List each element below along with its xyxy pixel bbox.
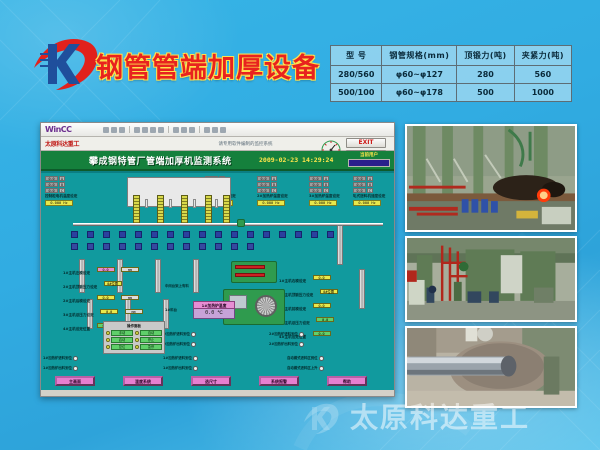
indicator-label: 2#加热炉进料到位 bbox=[269, 332, 298, 336]
machine-rotor-icon bbox=[255, 295, 277, 317]
spec-col-model: 型 号 bbox=[331, 46, 382, 66]
group-label: 3#加热炉温度设定 bbox=[309, 194, 340, 199]
nav-button-alarm[interactable]: 系统报警 bbox=[259, 376, 299, 386]
brand-watermark: 太原科达重工 bbox=[300, 392, 600, 440]
indicator-label: 1#加热炉进料到位 bbox=[43, 356, 72, 360]
group-label: 控制柜电机温度设定 bbox=[45, 194, 77, 199]
operator-lamp-icon bbox=[106, 331, 110, 335]
table-row: 280/560 φ60~φ127 280 560 bbox=[331, 66, 572, 84]
operator-row[interactable]: 急停 bbox=[135, 344, 162, 350]
roller-icon bbox=[199, 243, 206, 250]
operator-lamp-icon bbox=[135, 338, 139, 342]
unit-box: C bbox=[367, 188, 373, 193]
nav-button-main[interactable]: 主画面 bbox=[55, 376, 95, 386]
furnace-column bbox=[223, 195, 230, 225]
roller-icon bbox=[119, 243, 126, 250]
unit-box: B bbox=[271, 182, 277, 187]
hmi-process-canvas: 0.0 A 0.0 B 0.0 C 控制柜电机温度设定 0.000 Hz 0.0… bbox=[41, 171, 394, 390]
cell-pipe-size: φ60~φ178 bbox=[382, 84, 457, 102]
operator-lamp-icon bbox=[106, 338, 110, 342]
value-box: 0.0 bbox=[45, 182, 58, 187]
current-user-box: 当前用户 bbox=[348, 152, 390, 167]
bottom-status-4: 自动模式进料区到位 bbox=[287, 355, 324, 361]
indicator-furnace2-in: 2#加热炉进料到位 bbox=[269, 331, 304, 337]
operator-button[interactable]: 手动 bbox=[111, 330, 133, 336]
value-row: 0.0 C bbox=[353, 188, 385, 193]
param-value[interactable]: 0.0 bbox=[100, 309, 118, 314]
roller-icon bbox=[135, 231, 142, 238]
hmi-subbar: 太原科达重工 请专用软件编制的监控系统 EXIT Login bbox=[41, 137, 394, 151]
save-icon[interactable] bbox=[119, 127, 125, 133]
furnace-hanger bbox=[215, 199, 218, 208]
status-lamp bbox=[319, 366, 324, 371]
group-setpoint-field[interactable]: 0.000 Hz bbox=[45, 200, 73, 206]
operator-row[interactable]: 停止 bbox=[135, 337, 162, 343]
furnace-column bbox=[205, 195, 212, 225]
temperature-value: 0.0 ℃ bbox=[193, 309, 235, 319]
value-group-3: 0.0 A 0.0 B 0.0 C 3#加热炉温度设定 0.000 Hz bbox=[309, 176, 340, 206]
param-value[interactable]: 0#位置 bbox=[104, 281, 122, 286]
roller-icon bbox=[119, 231, 126, 238]
roller-icon bbox=[231, 231, 238, 238]
operator-lamp-icon bbox=[106, 345, 110, 349]
operator-row[interactable]: 启动 bbox=[106, 337, 133, 343]
unit-box: B bbox=[323, 182, 329, 187]
cell-clamp-force: 1000 bbox=[514, 84, 571, 102]
roller-icon bbox=[87, 243, 94, 250]
unit-box: A bbox=[367, 176, 373, 181]
hmi-titlebar: WinCC bbox=[41, 123, 394, 137]
indicator-label: 自动模式进料区上升 bbox=[287, 366, 318, 370]
operator-lamp-icon bbox=[135, 345, 139, 349]
toolbar-separator bbox=[129, 126, 130, 133]
furnace-hanger bbox=[169, 199, 172, 208]
machine-ram-bar bbox=[235, 265, 265, 269]
cell-upset-force: 500 bbox=[457, 84, 514, 102]
indicator-furnace1-out: 1#加热炉出料到位 bbox=[161, 341, 196, 347]
hmi-toolbar[interactable] bbox=[97, 126, 394, 133]
param-value[interactable]: 0.0 bbox=[316, 317, 334, 322]
unit-box: A bbox=[323, 176, 329, 181]
status-lamp bbox=[73, 356, 78, 361]
spec-col-clamp-force: 夹紧力(吨) bbox=[514, 46, 571, 66]
value-box: 0.0 bbox=[353, 188, 366, 193]
unit-box: A bbox=[59, 176, 65, 181]
roller-icon bbox=[263, 231, 270, 238]
indicator-label: 1#加热炉出料到位 bbox=[163, 366, 192, 370]
bottom-status-2: 1#加热炉进料到位 bbox=[163, 355, 198, 361]
unit-box: B bbox=[59, 182, 65, 187]
roller-icon bbox=[167, 243, 174, 250]
operator-lamp-icon bbox=[135, 331, 139, 335]
roller-icon bbox=[199, 231, 206, 238]
indicator-furnace2-out: 2#加热炉出料到位 bbox=[269, 341, 304, 347]
indicator-furnace1-in: 1#加热炉进料到位 bbox=[161, 331, 196, 337]
operator-panel: 操作面板 手动 启动 复位 bbox=[103, 321, 165, 354]
status-lamp bbox=[319, 356, 324, 361]
indicator-label: 1#加热炉出料到位 bbox=[161, 342, 190, 346]
value-row: 0.0 C bbox=[45, 188, 77, 193]
value-box: 0.0 bbox=[45, 188, 58, 193]
roller-icon bbox=[71, 243, 78, 250]
operator-button[interactable]: 急停 bbox=[140, 344, 162, 350]
param-unit: mm bbox=[121, 267, 139, 272]
hydraulic-cylinder bbox=[193, 259, 199, 293]
operator-row[interactable]: 手动 bbox=[106, 330, 133, 336]
group-setpoint-field[interactable]: 0.000 Hz bbox=[257, 200, 285, 206]
bottom-status-0: 1#加热炉进料到位 bbox=[43, 355, 78, 361]
page-title: 钢管管端加厚设备 bbox=[96, 46, 320, 85]
roller-icon bbox=[151, 243, 158, 250]
param-unit: mm bbox=[125, 309, 143, 314]
cell-model: 280/560 bbox=[331, 66, 382, 84]
temperature-label: 1#加热炉温度 bbox=[193, 301, 235, 309]
watermark-text: 太原科达重工 bbox=[350, 396, 530, 436]
stop-icon[interactable] bbox=[212, 127, 218, 133]
hydraulic-cylinder bbox=[337, 225, 343, 265]
new-icon[interactable] bbox=[103, 127, 109, 133]
hmi-title-bar: 攀成钢特管厂管端加厚机监测系统 2009-02-23 14:29:24 当前用户 bbox=[41, 151, 394, 171]
furnace-hanger bbox=[193, 199, 196, 208]
unit-box: C bbox=[323, 188, 329, 193]
value-row: 0.0 A bbox=[353, 176, 385, 181]
bottom-status-3: 1#加热炉出料到位 bbox=[163, 365, 198, 371]
hmi-screenshot-panel: WinCC 太原科达重工 请专用软件编制的监控系统 bbox=[40, 122, 395, 397]
roller-icon bbox=[279, 231, 286, 238]
cut-icon[interactable] bbox=[142, 127, 148, 133]
photo-upsetting-machine bbox=[405, 236, 577, 322]
status-lamp bbox=[299, 332, 304, 337]
roller-icon bbox=[135, 243, 142, 250]
cell-upset-force: 280 bbox=[457, 66, 514, 84]
nav-button-size[interactable]: 选尺寸 bbox=[191, 376, 231, 386]
spec-table: 型 号 钢管规格(mm) 顶锻力(吨) 夹紧力(吨) 280/560 φ60~φ… bbox=[330, 45, 572, 102]
value-box: 0.0 bbox=[257, 176, 270, 181]
roller-icon bbox=[327, 231, 334, 238]
hydraulic-cylinder bbox=[359, 269, 365, 309]
param-value[interactable]: 0#位置 bbox=[320, 289, 338, 294]
operator-button[interactable]: 启动 bbox=[111, 337, 133, 343]
roller-icon bbox=[215, 231, 222, 238]
table-row: 500/100 φ60~φ178 500 1000 bbox=[331, 84, 572, 102]
hmi-system-title: 攀成钢特管厂管端加厚机监测系统 bbox=[89, 154, 232, 167]
roller-icon bbox=[71, 231, 78, 238]
group-setpoint-field[interactable]: 0.000 Hz bbox=[309, 200, 337, 206]
kd-watermark-logo bbox=[300, 398, 344, 434]
cell-pipe-size: φ60~φ127 bbox=[382, 66, 457, 84]
spec-table-header-row: 型 号 钢管规格(mm) 顶锻力(吨) 夹紧力(吨) bbox=[331, 46, 572, 66]
roller-icon bbox=[183, 231, 190, 238]
operator-button[interactable]: 自动 bbox=[140, 330, 162, 336]
bottom-status-1: 1#加热炉出料到位 bbox=[43, 365, 78, 371]
machine-ram-bar bbox=[235, 273, 265, 277]
value-row: 0.0 C bbox=[309, 188, 340, 193]
furnace-temperature-display: 1#加热炉温度 0.0 ℃ bbox=[193, 301, 235, 319]
value-row: 0.0 A bbox=[45, 176, 77, 181]
hmi-timestamp: 2009-02-23 14:29:24 bbox=[259, 156, 333, 164]
group-label: 轧式送料机速度设定 bbox=[353, 194, 385, 199]
cell-model: 500/100 bbox=[331, 84, 382, 102]
group-label: 2#加热炉温度设定 bbox=[257, 194, 288, 199]
furnace-column bbox=[157, 195, 164, 225]
group-setpoint-field[interactable]: 0.000 Hz bbox=[353, 200, 381, 206]
value-group-0: 0.0 A 0.0 B 0.0 C 控制柜电机温度设定 0.000 Hz bbox=[45, 176, 77, 206]
photo-rolling-mill-hot-pipe bbox=[405, 124, 577, 232]
param-value[interactable]: 0.0 bbox=[313, 275, 331, 280]
toolbar-separator bbox=[199, 126, 200, 133]
roller-icon bbox=[87, 231, 94, 238]
indicator-label: 1#加热炉进料到位 bbox=[161, 332, 190, 336]
value-row: 0.0 B bbox=[309, 182, 340, 187]
value-row: 0.0 C bbox=[257, 188, 288, 193]
open-icon[interactable] bbox=[111, 127, 117, 133]
roller-icon bbox=[231, 243, 238, 250]
settings-icon[interactable] bbox=[220, 127, 226, 133]
spec-col-upset-force: 顶锻力(吨) bbox=[457, 46, 514, 66]
roller-icon bbox=[151, 231, 158, 238]
hmi-brand-label: 太原科达重工 bbox=[41, 139, 97, 148]
status-lamp bbox=[299, 342, 304, 347]
value-row: 0.0 A bbox=[309, 176, 340, 181]
nav-button-help[interactable]: 帮助 bbox=[327, 376, 367, 386]
value-group-4: 0.0 A 0.0 B 0.0 C 轧式送料机速度设定 0.000 Hz bbox=[353, 176, 385, 206]
param-value[interactable]: 0.0 bbox=[313, 303, 331, 308]
roller-icon bbox=[295, 231, 302, 238]
value-box: 0.0 bbox=[309, 176, 322, 181]
current-user-label: 当前用户 bbox=[348, 152, 390, 158]
operator-button[interactable]: 复位 bbox=[111, 344, 133, 350]
copy-icon[interactable] bbox=[150, 127, 156, 133]
value-row: 0.0 B bbox=[353, 182, 385, 187]
status-lamp bbox=[191, 342, 196, 347]
indicator-label: 2#加热炉出料到位 bbox=[269, 342, 298, 346]
run-icon[interactable] bbox=[204, 127, 210, 133]
bottom-status-5: 自动模式进料区上升 bbox=[287, 365, 324, 371]
value-box: 0.0 bbox=[309, 188, 322, 193]
param-value[interactable]: 0.0 bbox=[313, 331, 331, 336]
status-lamp bbox=[193, 366, 198, 371]
value-box: 0.0 bbox=[353, 176, 366, 181]
drive-motor-icon bbox=[237, 219, 245, 227]
status-lamp bbox=[191, 332, 196, 337]
indicator-label: 1#加热炉出料到位 bbox=[43, 366, 72, 370]
undo-icon[interactable] bbox=[173, 127, 179, 133]
operator-panel-title: 操作面板 bbox=[106, 324, 162, 329]
hydraulic-cylinder bbox=[155, 259, 161, 293]
param-label: 4#主机设定位置 bbox=[63, 327, 90, 331]
roller-icon bbox=[103, 231, 110, 238]
roller-icon bbox=[215, 243, 222, 250]
roller-icon bbox=[183, 243, 190, 250]
param-value[interactable]: 0.0 bbox=[97, 267, 115, 272]
value-box: 0.0 bbox=[257, 182, 270, 187]
nav-button-temperature[interactable]: 温度系统 bbox=[123, 376, 163, 386]
roller-icon bbox=[103, 243, 110, 250]
param-value[interactable]: 0.0 bbox=[97, 295, 115, 300]
status-lamp bbox=[73, 366, 78, 371]
roller-icon bbox=[247, 243, 254, 250]
indicator-label: 自动模式进料区到位 bbox=[287, 356, 318, 360]
value-row: 0.0 B bbox=[257, 182, 288, 187]
furnace-hanger bbox=[145, 199, 148, 208]
print-icon[interactable] bbox=[134, 127, 140, 133]
spec-col-pipe-size: 钢管规格(mm) bbox=[382, 46, 457, 66]
status-lamp bbox=[193, 356, 198, 361]
unit-box: C bbox=[271, 188, 277, 193]
roller-icon bbox=[311, 231, 318, 238]
value-box: 0.0 bbox=[353, 182, 366, 187]
unit-box: B bbox=[367, 182, 373, 187]
roller-icon bbox=[167, 231, 174, 238]
unit-box: A bbox=[271, 176, 277, 181]
operator-button[interactable]: 停止 bbox=[140, 337, 162, 343]
exit-button[interactable]: EXIT bbox=[346, 138, 386, 148]
furnace-column bbox=[181, 195, 188, 225]
operator-row[interactable]: 复位 bbox=[106, 344, 133, 350]
zoom-icon[interactable] bbox=[189, 127, 195, 133]
value-row: 0.0 A bbox=[257, 176, 288, 181]
value-box: 0.0 bbox=[45, 176, 58, 181]
paste-icon[interactable] bbox=[158, 127, 164, 133]
furnace-column bbox=[133, 195, 140, 225]
value-box: 0.0 bbox=[309, 182, 322, 187]
indicator-station-1: 1#料台 bbox=[165, 307, 177, 312]
unit-box: C bbox=[59, 188, 65, 193]
redo-icon[interactable] bbox=[181, 127, 187, 133]
roller-icon bbox=[247, 231, 254, 238]
indicator-center-material: 中间台架上有料 bbox=[165, 283, 189, 288]
current-user-input[interactable] bbox=[348, 159, 390, 167]
operator-row[interactable]: 自动 bbox=[135, 330, 162, 336]
toolbar-separator bbox=[168, 126, 169, 133]
param-unit: mm bbox=[121, 295, 139, 300]
wincc-logo: WinCC bbox=[41, 125, 97, 134]
value-group-2: 0.0 A 0.0 B 0.0 C 2#加热炉温度设定 0.000 Hz bbox=[257, 176, 288, 206]
value-box: 0.0 bbox=[257, 188, 270, 193]
value-row: 0.0 B bbox=[45, 182, 77, 187]
indicator-label: 1#加热炉进料到位 bbox=[163, 356, 192, 360]
cell-clamp-force: 560 bbox=[514, 66, 571, 84]
